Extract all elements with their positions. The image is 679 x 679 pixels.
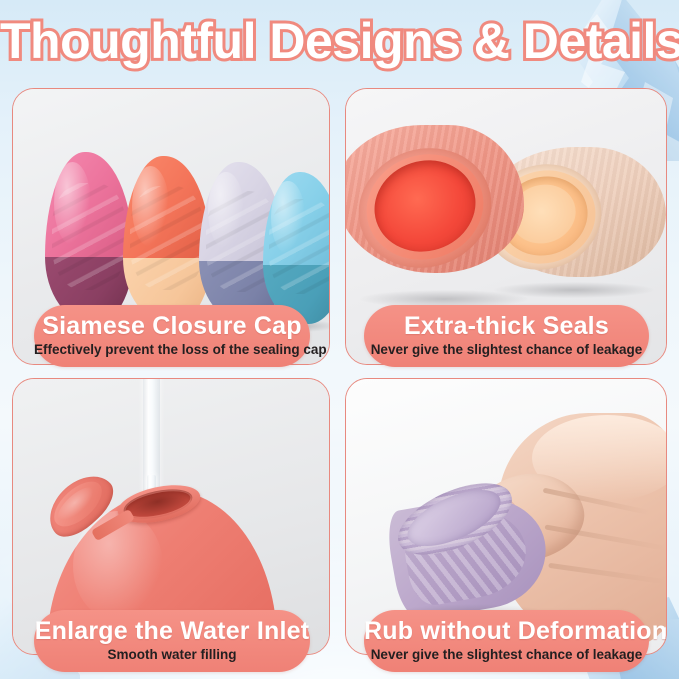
feature-label-rub-without-deformation: Rub without Deformation Never give the s… bbox=[364, 610, 649, 672]
feature-subtitle: Never give the slightest chance of leaka… bbox=[364, 646, 649, 663]
feature-title: Siamese Closure Cap bbox=[34, 311, 310, 341]
promo-infographic: Thoughtful Designs & Details bbox=[0, 0, 679, 679]
feature-label-siamese-closure-cap: Siamese Closure Cap Effectively prevent … bbox=[34, 305, 310, 367]
feature-subtitle: Effectively prevent the loss of the seal… bbox=[34, 341, 310, 358]
feature-title: Enlarge the Water Inlet bbox=[34, 616, 310, 646]
feature-label-extra-thick-seals: Extra-thick Seals Never give the slighte… bbox=[364, 305, 649, 367]
feature-title: Extra-thick Seals bbox=[364, 311, 649, 341]
feature-subtitle: Smooth water filling bbox=[34, 646, 310, 663]
feature-title: Rub without Deformation bbox=[364, 616, 649, 646]
feature-label-enlarge-the-water-inlet: Enlarge the Water Inlet Smooth water fil… bbox=[34, 610, 310, 672]
page-title: Thoughtful Designs & Details bbox=[0, 12, 679, 70]
feature-subtitle: Never give the slightest chance of leaka… bbox=[364, 341, 649, 358]
